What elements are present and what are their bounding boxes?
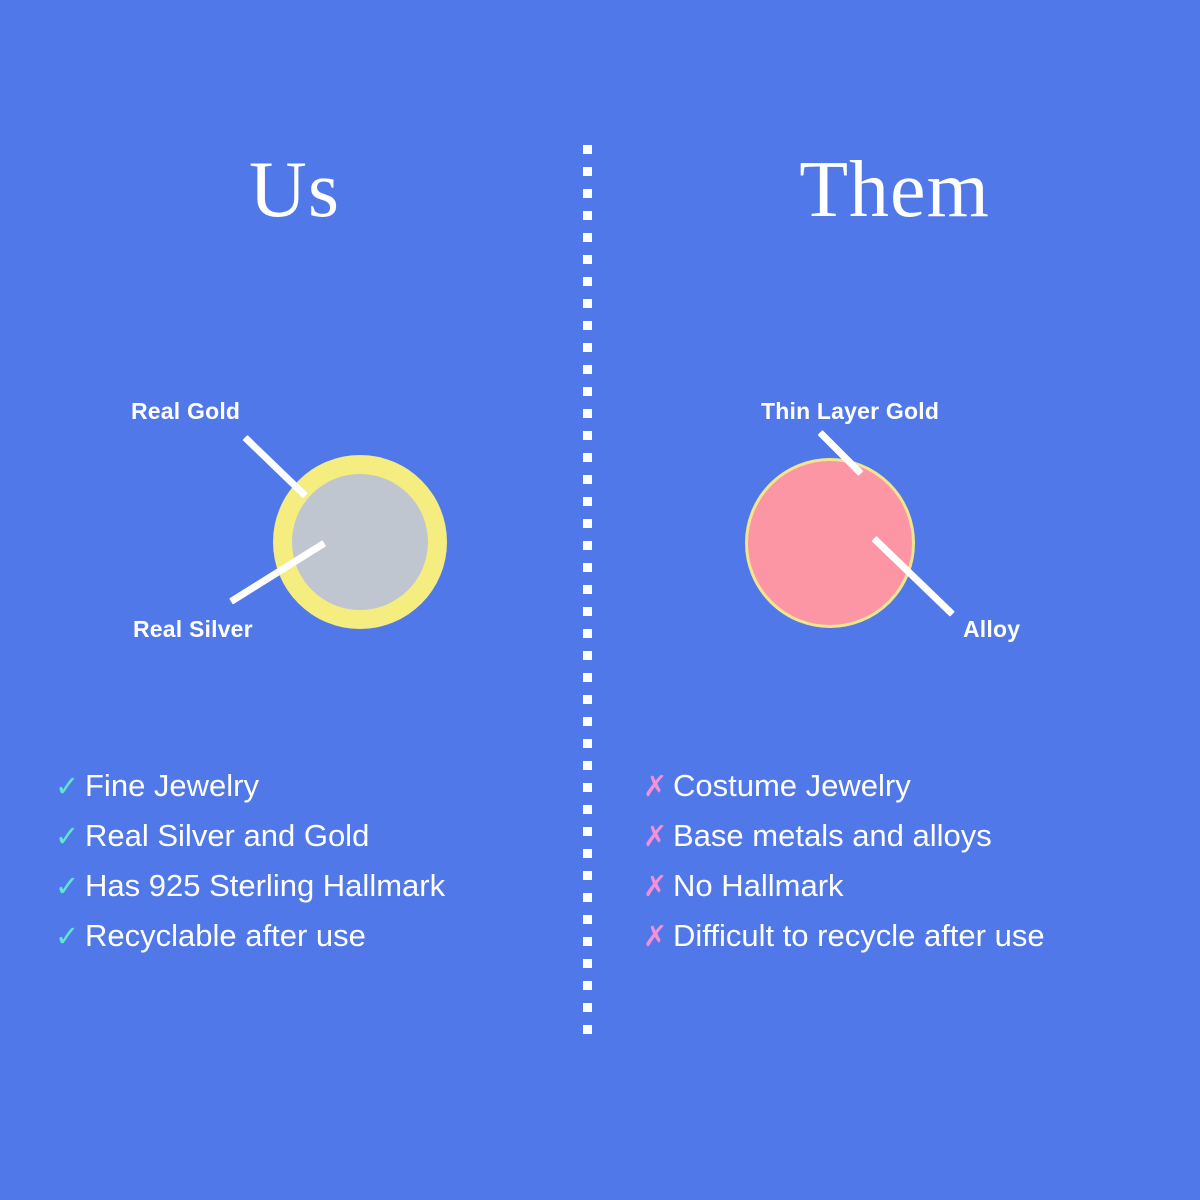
list-item-label: Has 925 Sterling Hallmark — [85, 868, 445, 904]
check-icon: ✓ — [55, 823, 85, 852]
divider-dot — [583, 849, 592, 858]
divider-dot — [583, 299, 592, 308]
check-icon: ✓ — [55, 873, 85, 902]
divider-dot — [583, 277, 592, 286]
list-item: ✗ Base metals and alloys — [643, 818, 1045, 868]
divider-dot — [583, 937, 592, 946]
callout-label-real-gold: Real Gold — [131, 398, 240, 425]
divider-dot — [583, 233, 592, 242]
divider-dot — [583, 893, 592, 902]
page-title-us: Us — [0, 150, 589, 230]
list-item-label: Difficult to recycle after use — [673, 918, 1045, 954]
divider-dot — [583, 783, 592, 792]
divider-dot — [583, 189, 592, 198]
list-item-label: Fine Jewelry — [85, 768, 259, 804]
cross-icon: ✗ — [643, 923, 673, 952]
list-item: ✓ Real Silver and Gold — [55, 818, 445, 868]
cross-icon: ✗ — [643, 773, 673, 802]
callout-label-thin-layer-gold: Thin Layer Gold — [761, 398, 939, 425]
diagram-us-cross-section: Real Gold Real Silver — [0, 380, 589, 680]
diagram-them-cross-section: Thin Layer Gold Alloy — [589, 380, 1200, 680]
divider-dot — [583, 871, 592, 880]
divider-dot — [583, 695, 592, 704]
divider-dot — [583, 915, 592, 924]
cross-icon: ✗ — [643, 823, 673, 852]
divider-dot — [583, 959, 592, 968]
callout-label-real-silver: Real Silver — [133, 616, 253, 643]
alloy-body-with-thin-gold-plating — [745, 458, 915, 628]
check-icon: ✓ — [55, 773, 85, 802]
feature-list-us: ✓ Fine Jewelry ✓ Real Silver and Gold ✓ … — [55, 768, 445, 968]
list-item-label: Base metals and alloys — [673, 818, 992, 854]
real-silver-inner-core — [292, 474, 428, 610]
list-item-label: Costume Jewelry — [673, 768, 911, 804]
divider-dot — [583, 805, 592, 814]
list-item: ✓ Recyclable after use — [55, 918, 445, 968]
divider-dot — [583, 1025, 592, 1034]
leader-line-real-gold — [243, 435, 308, 498]
feature-list-them: ✗ Costume Jewelry ✗ Base metals and allo… — [643, 768, 1045, 968]
divider-dot — [583, 321, 592, 330]
list-item: ✗ No Hallmark — [643, 868, 1045, 918]
list-item: ✗ Costume Jewelry — [643, 768, 1045, 818]
divider-dot — [583, 255, 592, 264]
list-item-label: No Hallmark — [673, 868, 844, 904]
list-item-label: Recyclable after use — [85, 918, 366, 954]
cross-icon: ✗ — [643, 873, 673, 902]
divider-dot — [583, 739, 592, 748]
list-item: ✓ Has 925 Sterling Hallmark — [55, 868, 445, 918]
divider-dot — [583, 761, 592, 770]
list-item-label: Real Silver and Gold — [85, 818, 369, 854]
list-item: ✗ Difficult to recycle after use — [643, 918, 1045, 968]
divider-dot — [583, 1003, 592, 1012]
divider-dot — [583, 365, 592, 374]
divider-dot — [583, 343, 592, 352]
divider-dot — [583, 717, 592, 726]
divider-dot — [583, 981, 592, 990]
callout-label-alloy: Alloy — [963, 616, 1020, 643]
check-icon: ✓ — [55, 923, 85, 952]
list-item: ✓ Fine Jewelry — [55, 768, 445, 818]
divider-dot — [583, 827, 592, 836]
divider-dot — [583, 167, 592, 176]
divider-dot — [583, 211, 592, 220]
divider-dot — [583, 145, 592, 154]
page-title-them: Them — [589, 150, 1200, 230]
